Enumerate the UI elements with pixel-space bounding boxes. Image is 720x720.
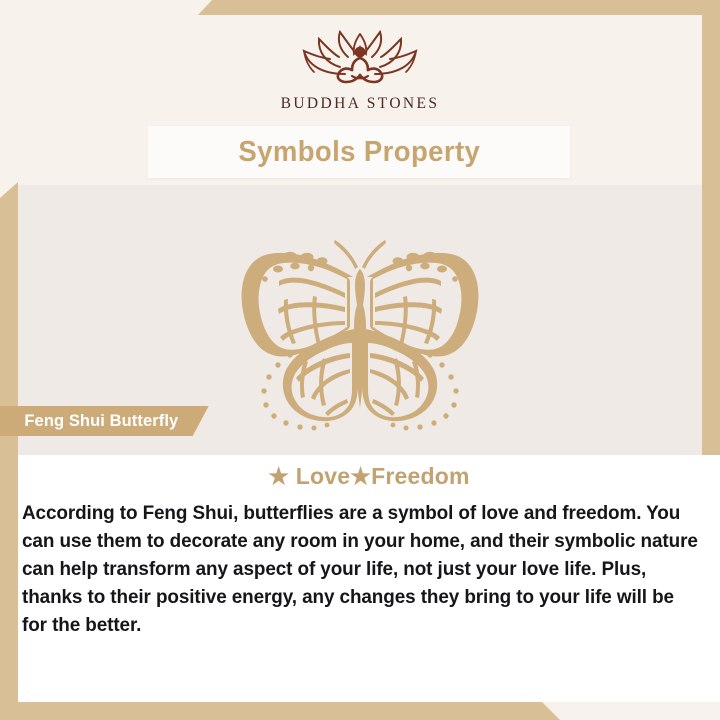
frame-bottom-left-accent [0, 702, 560, 720]
subheading: ★ Love★Freedom [18, 463, 720, 490]
description-panel: ★ Love★Freedom According to Feng Shui, b… [18, 455, 720, 702]
brand-logo: BUDDHA STONES [18, 27, 702, 113]
butterfly-icon [195, 207, 525, 455]
page-title: Symbols Property [238, 136, 480, 169]
title-banner: Symbols Property [148, 126, 570, 178]
category-label-text: Feng Shui Butterfly [24, 411, 178, 431]
brand-name: BUDDHA STONES [281, 95, 440, 113]
category-label: Feng Shui Butterfly [0, 406, 209, 436]
promo-graphic: BUDDHA STONES Symbols Property [0, 0, 720, 720]
lotus-meditation-icon [282, 27, 438, 89]
body-paragraph: According to Feng Shui, butterflies are … [22, 499, 701, 639]
frame-top-right-accent [198, 0, 720, 15]
frame-left-accent [0, 182, 18, 720]
